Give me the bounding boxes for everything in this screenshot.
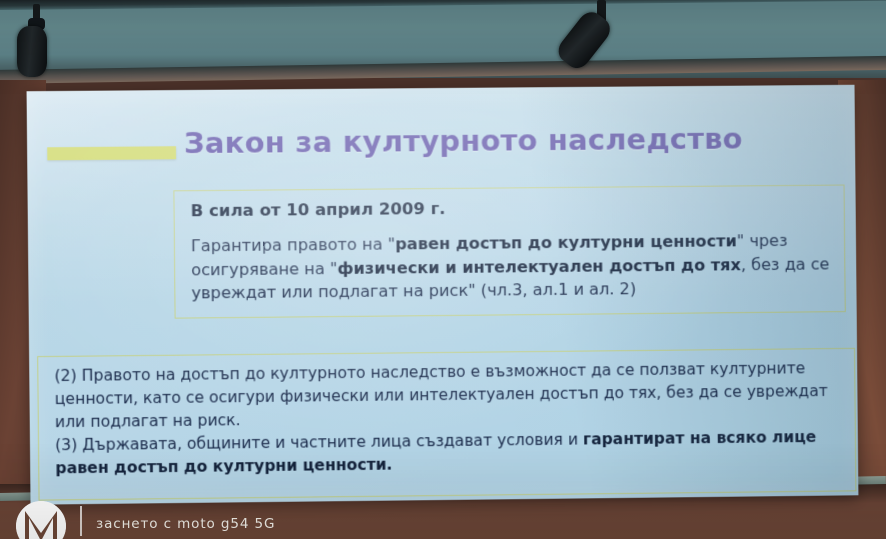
- title-accent-bar: [47, 146, 176, 160]
- guarantee-bold1: равен достъп до културни ценности: [395, 231, 737, 253]
- para3-part1: (3) Държавата, общините и частните лица …: [55, 431, 583, 455]
- effective-date-text: В сила от 10 април 2009 г.: [191, 196, 830, 221]
- guarantee-part1: Гарантира правото на ": [191, 234, 395, 255]
- track-spotlight-left: [17, 26, 47, 77]
- watermark-divider: [80, 506, 82, 536]
- motorola-batwing-logo: [16, 501, 66, 539]
- page-title: Закон за културното наследство: [184, 121, 824, 160]
- guarantee-bold2: физически и интелектуален достъп до тях: [337, 255, 741, 278]
- photo-scene: Закон за културното наследство В сила от…: [0, 0, 886, 539]
- slide-text-box-bottom: (2) Правото на достъп до културното насл…: [37, 348, 856, 501]
- guarantee-paragraph: Гарантира правото на "равен достъп до ку…: [191, 228, 831, 305]
- projection-screen: Закон за културното наследство В сила от…: [27, 85, 859, 505]
- law-paragraph-3: (3) Държавата, общините и частните лица …: [55, 426, 841, 480]
- law-paragraph-2: (2) Правото на достъп до културното насл…: [54, 357, 841, 434]
- slide-text-box-top: В сила от 10 април 2009 г. Гарантира пра…: [173, 185, 845, 319]
- camera-watermark: заснето с moto g54 5G: [0, 499, 886, 539]
- watermark-text: заснето с moto g54 5G: [96, 516, 275, 532]
